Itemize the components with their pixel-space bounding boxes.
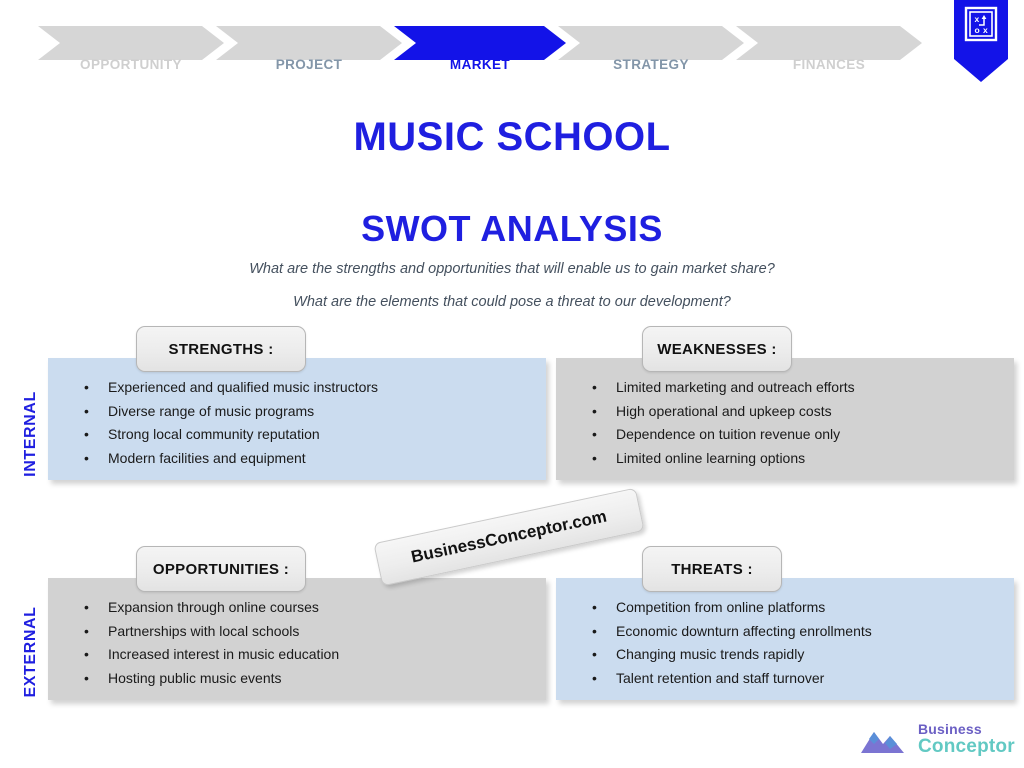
list-item: Partnerships with local schools — [62, 620, 532, 644]
list-item: Limited online learning options — [570, 447, 1000, 471]
process-navigation-bar: OPPORTUNITY PROJECT MARKET STRATEGY FINA… — [0, 0, 1024, 88]
threats-list: Competition from online platforms Econom… — [570, 596, 1000, 690]
opportunities-list: Expansion through online courses Partner… — [62, 596, 532, 690]
nav-step-finances-chevron[interactable] — [736, 26, 922, 60]
list-item: Talent retention and staff turnover — [570, 667, 1000, 691]
brand-word-business: Business — [918, 722, 1015, 736]
list-item: Limited marketing and outreach efforts — [570, 376, 1000, 400]
weaknesses-heading: WEAKNESSES : — [642, 326, 792, 372]
svg-text:x: x — [983, 25, 988, 35]
svg-text:x: x — [975, 14, 980, 24]
brand-logo: Business Conceptor — [860, 718, 1010, 760]
page-title-company: MUSIC SCHOOL — [0, 115, 1024, 160]
subtitle-question-2: What are the elements that could pose a … — [0, 294, 1024, 310]
weaknesses-panel: Limited marketing and outreach efforts H… — [556, 358, 1014, 480]
strategy-banner-badge: x o x — [954, 0, 1008, 82]
list-item: Economic downturn affecting enrollments — [570, 620, 1000, 644]
brand-word-conceptor: Conceptor — [918, 737, 1015, 756]
nav-step-strategy-chevron[interactable] — [558, 26, 744, 60]
list-item: Expansion through online courses — [62, 596, 532, 620]
threats-panel: Competition from online platforms Econom… — [556, 578, 1014, 700]
list-item: Experienced and qualified music instruct… — [62, 376, 532, 400]
nav-step-label-finances[interactable]: FINANCES — [736, 57, 922, 75]
list-item: Strong local community reputation — [62, 423, 532, 447]
axis-label-internal: INTERNAL — [22, 379, 40, 489]
nav-step-label-project[interactable]: PROJECT — [216, 57, 402, 75]
nav-step-opportunity-chevron[interactable] — [38, 26, 224, 60]
strengths-panel: Experienced and qualified music instruct… — [48, 358, 546, 480]
list-item: High operational and upkeep costs — [570, 400, 1000, 424]
opportunities-panel: Expansion through online courses Partner… — [48, 578, 546, 700]
slide-canvas: OPPORTUNITY PROJECT MARKET STRATEGY FINA… — [0, 0, 1024, 768]
page-title-document: SWOT ANALYSIS — [0, 208, 1024, 250]
svg-text:o: o — [975, 25, 980, 35]
list-item: Dependence on tuition revenue only — [570, 423, 1000, 447]
axis-label-external: EXTERNAL — [22, 597, 40, 707]
threats-heading: THREATS : — [642, 546, 782, 592]
subtitle-question-1: What are the strengths and opportunities… — [0, 261, 1024, 277]
list-item: Modern facilities and equipment — [62, 447, 532, 471]
nav-step-project-chevron[interactable] — [216, 26, 402, 60]
watermark-badge: BusinessConceptor.com — [373, 488, 644, 587]
brand-logo-wordmark: Business Conceptor — [918, 722, 1015, 756]
mountains-icon — [860, 722, 916, 756]
opportunities-heading: OPPORTUNITIES : — [136, 546, 306, 592]
strengths-heading: STRENGTHS : — [136, 326, 306, 372]
strategy-playbook-icon: x o x — [964, 6, 998, 42]
list-item: Changing music trends rapidly — [570, 643, 1000, 667]
strengths-list: Experienced and qualified music instruct… — [62, 376, 532, 470]
nav-step-market-chevron[interactable] — [394, 26, 566, 60]
weaknesses-list: Limited marketing and outreach efforts H… — [570, 376, 1000, 470]
nav-step-label-opportunity[interactable]: OPPORTUNITY — [38, 57, 224, 75]
list-item: Increased interest in music education — [62, 643, 532, 667]
list-item: Hosting public music events — [62, 667, 532, 691]
nav-step-label-strategy[interactable]: STRATEGY — [558, 57, 744, 75]
nav-step-label-market[interactable]: MARKET — [394, 57, 566, 75]
list-item: Diverse range of music programs — [62, 400, 532, 424]
list-item: Competition from online platforms — [570, 596, 1000, 620]
